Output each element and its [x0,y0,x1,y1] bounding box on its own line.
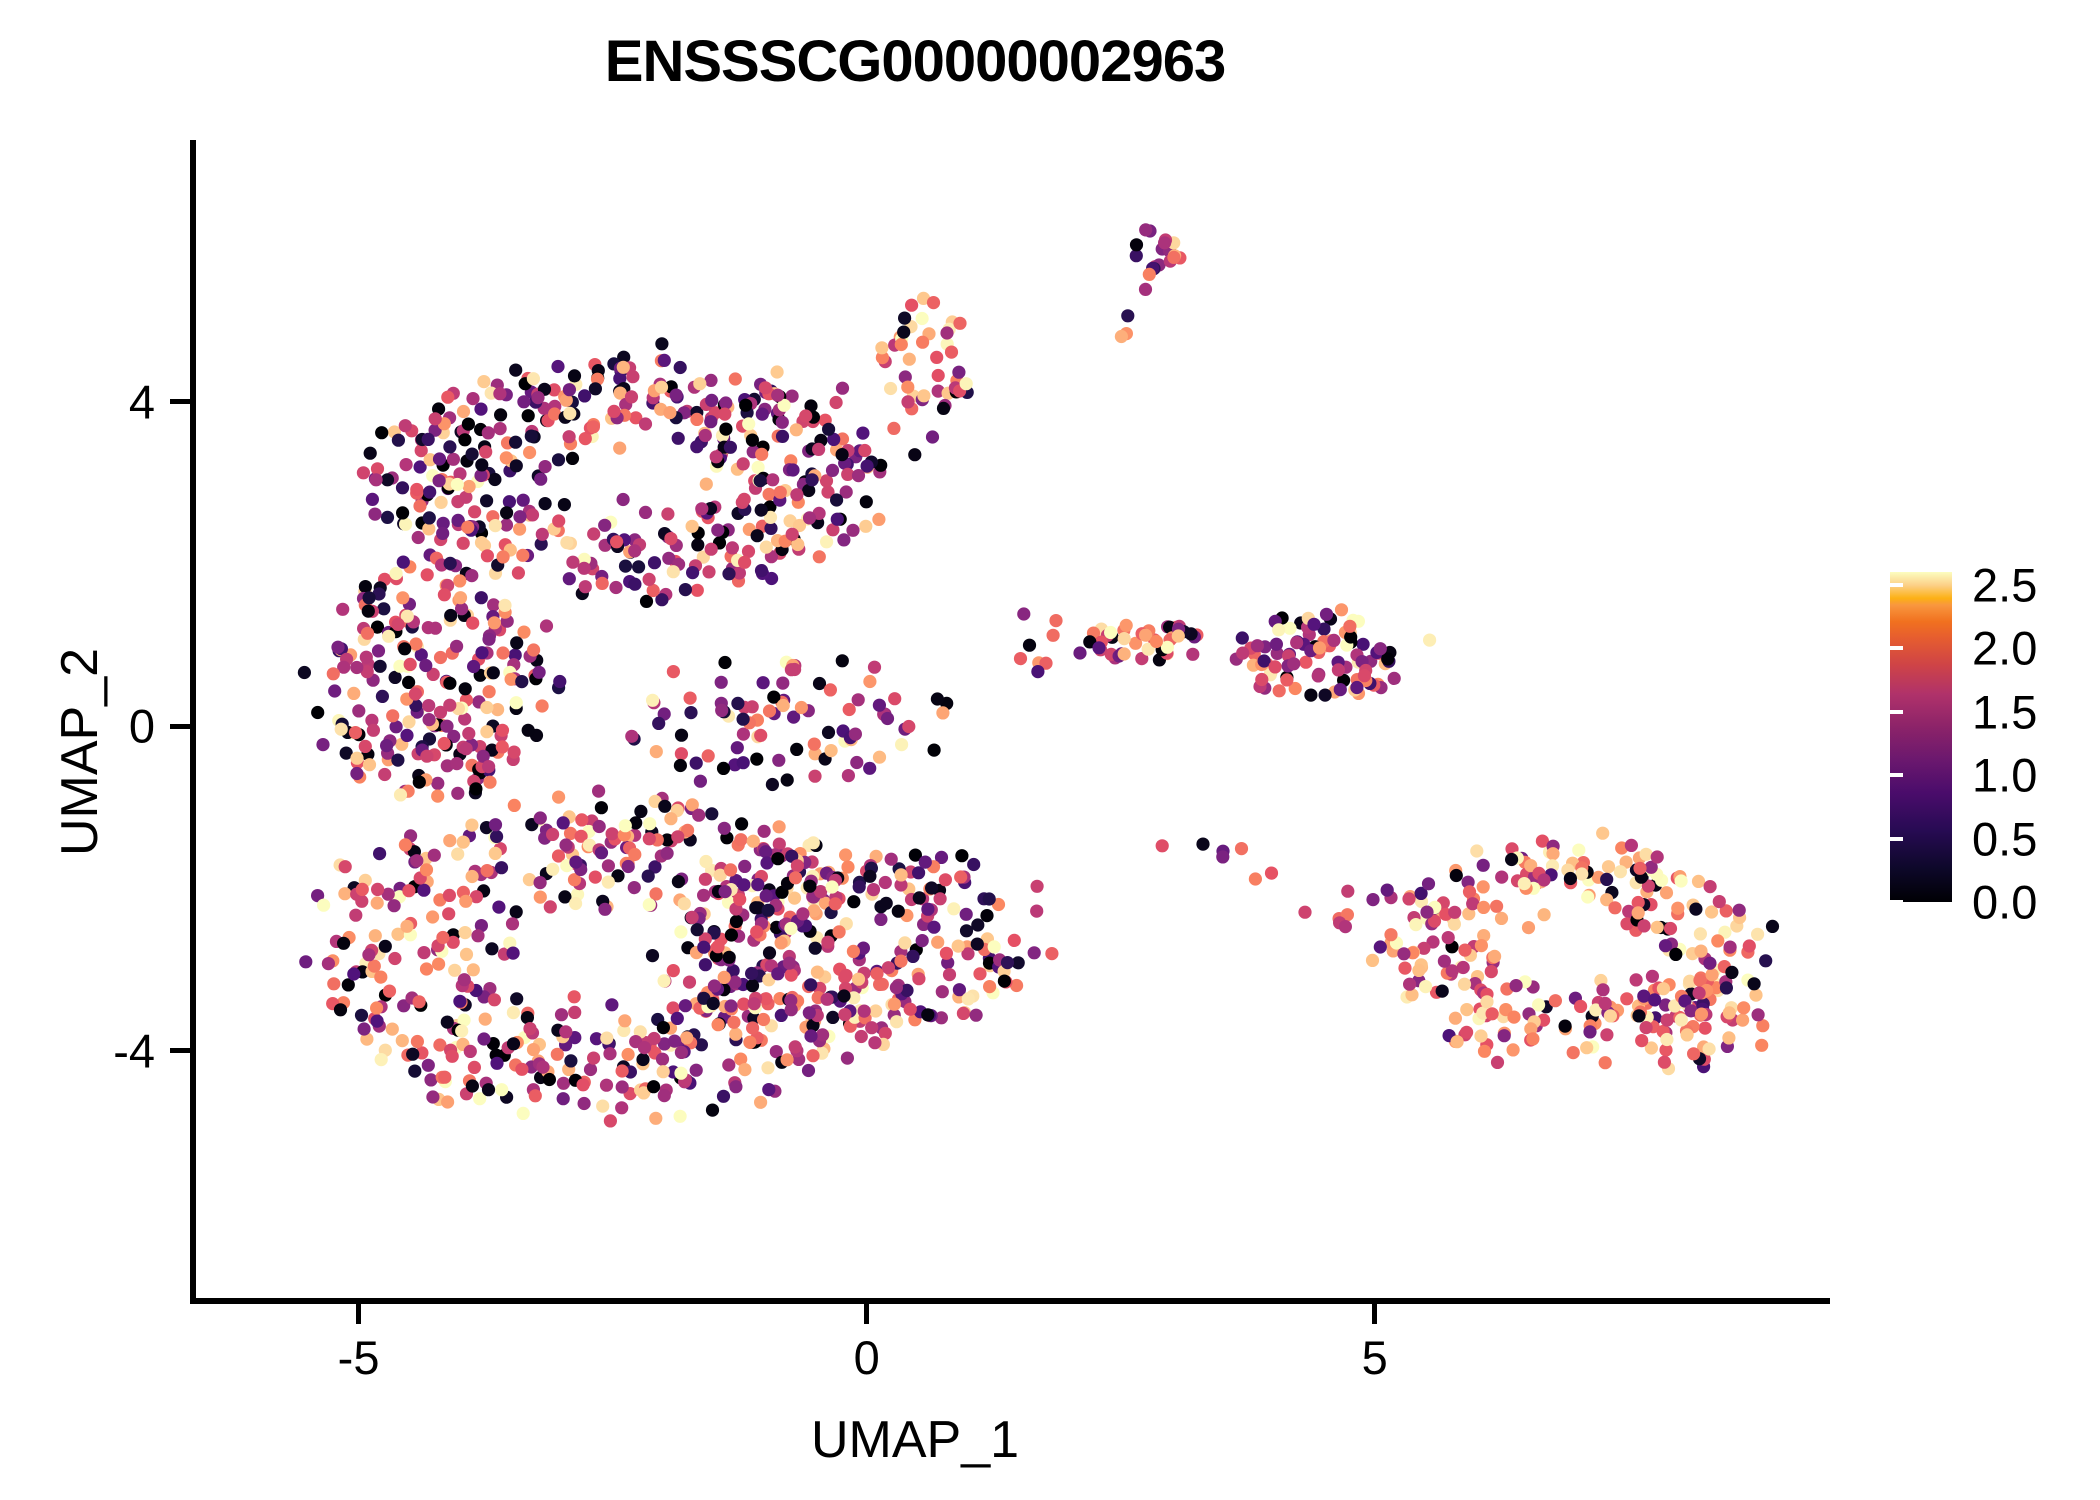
scatter-point [603,1047,616,1060]
scatter-point [691,923,704,936]
scatter-point [525,430,538,443]
scatter-point [1694,945,1707,958]
scatter-point [1743,939,1756,952]
colorbar-tick-mark [1890,900,1903,904]
scatter-point [1366,954,1379,967]
scatter-point [711,940,724,953]
scatter-point [451,848,464,861]
scatter-point [359,740,372,753]
scatter-point [1660,1033,1673,1046]
scatter-point [539,460,552,473]
colorbar-tick-mark [1890,583,1903,587]
scatter-point [358,1022,371,1035]
scatter-point [375,426,388,439]
scatter-point [771,389,784,402]
scatter-point [1706,968,1719,981]
scatter-point [638,1041,651,1054]
scatter-point [902,720,915,733]
scatter-point [699,855,712,868]
scatter-point [619,819,632,832]
scatter-point [1704,880,1717,893]
scatter-point [587,1052,600,1065]
scatter-point [751,878,764,891]
scatter-point [595,801,608,814]
scatter-point [708,979,721,992]
scatter-point [575,813,588,826]
scatter-point [607,405,620,418]
scatter-point [413,776,426,789]
scatter-point [928,744,941,757]
scatter-point [1633,862,1646,875]
scatter-point [490,830,503,843]
scatter-point [625,730,638,743]
scatter-point [443,889,456,902]
scatter-point [543,1073,556,1086]
scatter-point [763,704,776,717]
scatter-point [569,897,582,910]
scatter-point [1272,623,1285,636]
scatter-point [1498,1029,1511,1042]
scatter-point [509,436,522,449]
scatter-point [808,738,821,751]
scatter-point [867,883,880,896]
scatter-point [1398,962,1411,975]
scatter-point [1474,1029,1487,1042]
scatter-point [686,566,699,579]
scatter-point [921,1008,934,1021]
scatter-point [1575,867,1588,880]
scatter-point [1736,1014,1749,1027]
scatter-point [1694,927,1707,940]
scatter-point [386,1023,399,1036]
scatter-point [833,925,846,938]
scatter-point [1749,989,1762,1002]
scatter-points-layer [196,142,1832,1302]
scatter-point [680,1031,693,1044]
legend-tick-label: 2.0 [1972,621,2037,676]
scatter-point [1298,906,1311,919]
scatter-point [1420,906,1433,919]
scatter-point [870,967,883,980]
scatter-point [785,663,798,676]
scatter-point [729,1080,742,1093]
y-tick-label: -4 [113,1023,155,1078]
scatter-point [619,560,632,573]
scatter-point [337,937,350,950]
scatter-point [369,929,382,942]
scatter-point [934,892,947,905]
scatter-point [715,676,728,689]
scatter-point [839,969,852,982]
scatter-point [812,443,825,456]
scatter-point [422,699,435,712]
scatter-point [622,1048,635,1061]
scatter-point [496,646,509,659]
scatter-point [648,1032,661,1045]
scatter-point [1470,844,1483,857]
scatter-point [855,1030,868,1043]
scatter-point [746,979,759,992]
colorbar-tick-mark [2067,837,2080,841]
scatter-point [466,1079,479,1092]
scatter-point [1695,1008,1708,1021]
colorbar-tick-mark [1890,837,1903,841]
scatter-point [396,1034,409,1047]
scatter-point [1480,995,1493,1008]
scatter-point [1448,906,1461,919]
scatter-point [690,1064,703,1077]
scatter-point [544,900,557,913]
colorbar-tick-mark [1890,646,1903,650]
scatter-point [707,997,720,1010]
scatter-point [863,762,876,775]
scatter-point [356,883,369,896]
scatter-point [1537,873,1550,886]
scatter-point [1491,1056,1504,1069]
scatter-point [496,724,509,737]
scatter-point [1313,641,1326,654]
scatter-point [927,296,940,309]
scatter-point [755,448,768,461]
scatter-point [527,643,540,656]
scatter-point [690,757,703,770]
scatter-point [672,875,685,888]
colorbar-tick-mark [2067,900,2080,904]
scatter-point [510,459,523,472]
scatter-point [1304,689,1317,702]
scatter-point [706,1104,719,1117]
scatter-point [1460,1026,1473,1039]
scatter-point [1280,673,1293,686]
scatter-point [359,580,372,593]
scatter-point [684,706,697,719]
scatter-point [881,712,894,725]
scatter-point [1640,1021,1653,1034]
scatter-point [873,699,886,712]
scatter-point [482,1083,495,1096]
scatter-point [1458,978,1471,991]
scatter-point [440,720,453,733]
scatter-point [409,637,422,650]
scatter-point [952,940,965,953]
scatter-point [409,687,422,700]
scatter-point [1572,844,1585,857]
scatter-point [579,580,592,593]
scatter-point [983,892,996,905]
scatter-point [569,856,582,869]
scatter-point [584,1063,597,1076]
scatter-point [380,739,393,752]
scatter-point [1343,620,1356,633]
scatter-point [429,412,442,425]
scatter-point [536,1061,549,1074]
scatter-point [717,762,730,775]
scatter-point [791,859,804,872]
scatter-point [820,535,833,548]
scatter-point [742,417,755,430]
scatter-point [824,683,837,696]
scatter-point [487,666,500,679]
scatter-point [954,870,967,883]
scatter-point [1269,660,1282,673]
scatter-point [406,1048,419,1061]
scatter-point [895,738,908,751]
scatter-point [1150,635,1163,648]
scatter-point [546,828,559,841]
legend-tick-label: 2.5 [1972,557,2037,612]
scatter-point [587,420,600,433]
scatter-point [726,541,739,554]
scatter-point [737,728,750,741]
scatter-point [658,1089,671,1102]
scatter-point [622,860,635,873]
scatter-point [366,493,379,506]
scatter-point [1495,871,1508,884]
scatter-point [1733,904,1746,917]
scatter-point [1290,636,1303,649]
scatter-point [598,519,611,532]
scatter-point [841,860,854,873]
scatter-point [704,415,717,428]
scatter-point [668,1035,681,1048]
scatter-point [1485,965,1498,978]
scatter-point [350,661,363,674]
scatter-point [466,870,479,883]
scatter-point [751,529,764,542]
x-tick-label: 0 [854,1330,880,1385]
scatter-point [879,876,892,889]
scatter-point [467,963,480,976]
scatter-point [1350,681,1363,694]
scatter-point [679,999,692,1012]
scatter-point [436,527,449,540]
scatter-point [485,942,498,955]
scatter-point [743,1036,756,1049]
scatter-point [1699,1022,1712,1035]
scatter-point [479,1013,492,1026]
scatter-point [1600,873,1613,886]
scatter-point [785,969,798,982]
scatter-point [811,966,824,979]
scatter-point [932,369,945,382]
scatter-point [841,1052,854,1065]
scatter-point [1312,669,1325,682]
scatter-point [604,1114,617,1127]
scatter-point [1014,652,1027,665]
scatter-point [494,422,507,435]
scatter-point [1549,994,1562,1007]
scatter-point [402,884,415,897]
scatter-point [754,1096,767,1109]
scatter-point [1327,634,1340,647]
scatter-point [400,920,413,933]
scatter-point [936,985,949,998]
scatter-point [1384,928,1397,941]
plot-panel [196,142,1832,1302]
scatter-point [1581,890,1594,903]
scatter-point [863,675,876,688]
scatter-point [931,692,944,705]
scatter-point [1495,912,1508,925]
scatter-point [399,419,412,432]
scatter-point [370,473,383,486]
scatter-point [683,976,696,989]
scatter-point [460,948,473,961]
scatter-point [639,417,652,430]
scatter-point [781,773,794,786]
scatter-point [1158,236,1171,249]
scatter-point [521,1011,534,1024]
scatter-point [557,1077,570,1090]
scatter-point [447,453,460,466]
scatter-point [506,917,519,930]
scatter-point [737,713,750,726]
scatter-point [847,945,860,958]
scatter-point [1564,872,1577,885]
scatter-point [652,717,665,730]
scatter-point [534,891,547,904]
scatter-point [771,852,784,865]
scatter-point [1651,921,1664,934]
scatter-point [1402,892,1415,905]
scatter-point [724,863,737,876]
scatter-point [617,361,630,374]
scatter-point [836,382,849,395]
scatter-point [1143,268,1156,281]
scatter-point [739,399,752,412]
scatter-point [655,381,668,394]
scatter-point [789,871,802,884]
scatter-point [463,480,476,493]
scatter-point [523,446,536,459]
scatter-point [422,1059,435,1072]
scatter-point [431,790,444,803]
scatter-point [634,805,647,818]
scatter-point [417,884,430,897]
scatter-point [536,528,549,541]
legend-tick-label: 1.5 [1972,684,2037,739]
scatter-point [1604,1009,1617,1022]
scatter-point [655,337,668,350]
scatter-point [774,486,787,499]
scatter-point [371,1015,384,1028]
scatter-point [1660,886,1673,899]
scatter-point [551,360,564,373]
scatter-point [691,584,704,597]
scatter-point [931,936,944,949]
x-tick-mark [356,1304,361,1324]
scatter-point [858,444,871,457]
scatter-point [1287,657,1300,670]
scatter-point [468,505,481,518]
scatter-point [807,836,820,849]
scatter-point [363,591,376,604]
scatter-point [461,521,474,534]
scatter-point [1596,983,1609,996]
scatter-point [533,666,546,679]
scatter-point [507,1006,520,1019]
scatter-point [940,326,953,339]
scatter-point [459,926,472,939]
scatter-point [719,885,732,898]
colorbar-tick-mark [2067,583,2080,587]
scatter-point [771,365,784,378]
scatter-point [508,799,521,812]
scatter-point [699,958,712,971]
scatter-point [1759,954,1772,967]
scatter-point [1031,665,1044,678]
scatter-point [679,583,692,596]
scatter-point [816,1028,829,1041]
scatter-point [790,423,803,436]
scatter-point [658,974,671,987]
scatter-point [830,396,843,409]
scatter-point [776,416,789,429]
scatter-point [674,925,687,938]
scatter-point [695,502,708,515]
scatter-point [450,640,463,653]
scatter-point [674,759,687,772]
scatter-point [1720,981,1733,994]
scatter-point [885,853,898,866]
scatter-point [436,931,449,944]
scatter-point [1737,1001,1750,1014]
scatter-point [1599,997,1612,1010]
scatter-point [849,728,862,741]
scatter-point [357,466,370,479]
scatter-point [1608,901,1621,914]
scatter-point [650,745,663,758]
scatter-point [1692,875,1705,888]
scatter-point [498,599,511,612]
scatter-point [882,961,895,974]
scatter-point [1249,872,1262,885]
scatter-point [953,317,966,330]
scatter-point [722,1058,735,1071]
scatter-point [606,827,619,840]
scatter-point [1614,865,1627,878]
scatter-point [790,488,803,501]
scatter-point [1664,922,1677,935]
scatter-point [566,556,579,569]
scatter-point [1632,1009,1645,1022]
scatter-point [738,556,751,569]
scatter-point [400,729,413,742]
scatter-point [686,520,699,533]
scatter-point [1671,902,1684,915]
scatter-point [510,992,523,1005]
scatter-point [443,677,456,690]
scatter-point [467,660,480,673]
scatter-point [766,473,779,486]
scatter-point [674,1110,687,1123]
scatter-point [763,946,776,959]
colorbar [1890,572,1952,902]
scatter-point [468,1061,481,1074]
colorbar-gradient [1890,572,1952,902]
scatter-point [648,556,661,569]
scatter-point [1045,947,1058,960]
scatter-point [563,407,576,420]
scatter-point [656,1053,669,1066]
scatter-point [428,849,441,862]
scatter-point [880,897,893,910]
scatter-point [837,989,850,1002]
scatter-point [510,636,523,649]
scatter-point [783,957,796,970]
scatter-point [1546,847,1559,860]
scatter-point [1703,957,1716,970]
